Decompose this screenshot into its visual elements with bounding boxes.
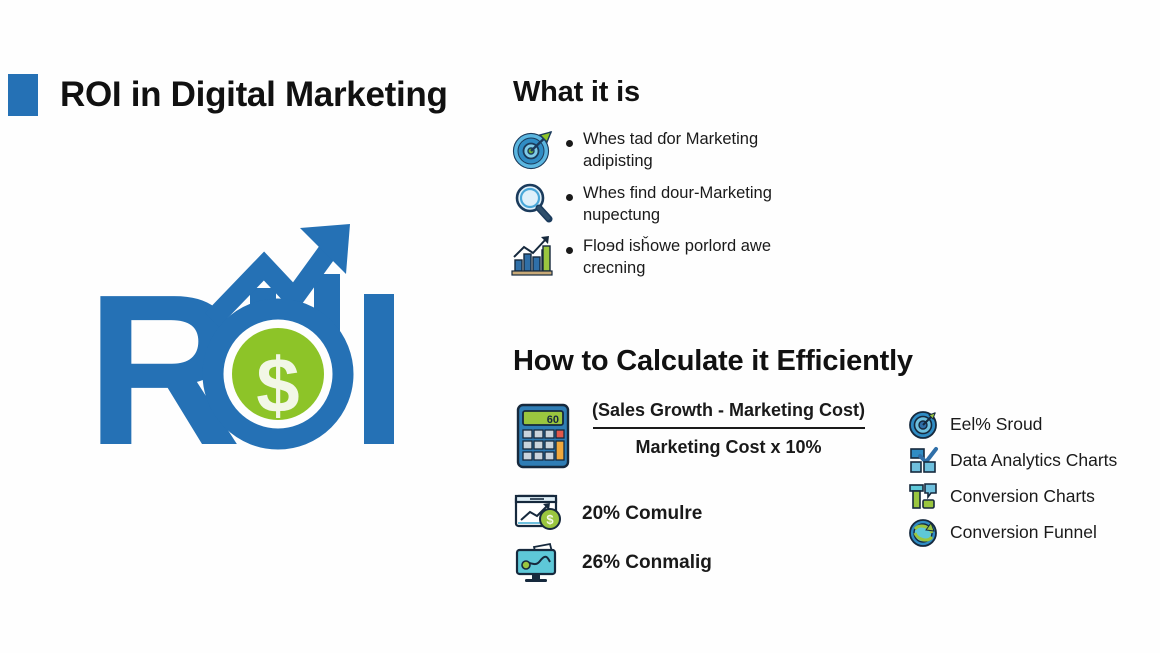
- list-item: $ 20% Comulre: [512, 492, 712, 536]
- magnifier-icon: [510, 180, 556, 226]
- list-item-label: Conversion Charts: [950, 486, 1095, 507]
- title-text: ROI in Digital Marketing: [60, 75, 448, 115]
- monitor-money-icon: [512, 541, 568, 585]
- list-item: 26% Conmalig: [512, 541, 712, 585]
- list-item-label: 26% Conmalig: [582, 552, 712, 574]
- target-arrow-icon: [908, 409, 939, 440]
- list-item: Floɘd isȟowe porlord awe crecning: [510, 235, 870, 280]
- list-item-label: Data Analytics Charts: [950, 450, 1117, 471]
- svg-text:$: $: [256, 341, 299, 429]
- formula-denominator: Marketing Cost x 10%: [635, 429, 821, 458]
- list-item: Conversion Charts: [908, 482, 1117, 510]
- bar-chart-growth-icon: [510, 233, 556, 279]
- list-item: Whes find dour-Marketing nupectung: [510, 182, 870, 227]
- list-item: Whes tad ɗor Marketing adipisting: [510, 128, 870, 173]
- roi-formula: (Sales Growth - Marketing Cost) Marketin…: [588, 398, 869, 458]
- browser-chart-coin-icon: $: [512, 492, 568, 536]
- title-accent-block: [8, 74, 38, 116]
- target-icon: [510, 126, 556, 172]
- section-heading-how-to-calculate: How to Calculate it Efficiently: [513, 345, 913, 378]
- list-item-label: Conversion Funnel: [950, 522, 1097, 543]
- list-item-label: Eel% Sroud: [950, 414, 1042, 435]
- list-item: Conversion Funnel: [908, 518, 1117, 546]
- list-item-label: 20% Comulre: [582, 503, 702, 525]
- page-title: ROI in Digital Marketing: [8, 74, 448, 116]
- conversion-funnel-icon: [908, 517, 939, 548]
- formula-block: 60 (Sales Growth - Marketing Cost) Marke…: [512, 398, 869, 470]
- calculator-icon: 60: [512, 402, 574, 470]
- data-analytics-charts-icon: [908, 445, 939, 476]
- list-item-label: Floɘd isȟowe porlord awe crecning: [583, 235, 798, 280]
- list-item: Data Analytics Charts: [908, 446, 1117, 474]
- list-item-label: Whes tad ɗor Marketing adipisting: [583, 128, 798, 173]
- list-item-label: Whes find dour-Marketing nupectung: [583, 182, 798, 227]
- metric-list: $ 20% Comulre 26% Conmalig: [512, 492, 712, 590]
- chart-types-list: Eel% Sroud Data Analytics Charts: [908, 410, 1117, 554]
- section-heading-what-it-is: What it is: [513, 76, 640, 109]
- bullet-dot: [566, 247, 573, 254]
- formula-numerator: (Sales Growth - Marketing Cost): [588, 400, 869, 427]
- conversion-charts-icon: [908, 481, 939, 512]
- what-it-is-bullet-list: Whes tad ɗor Marketing adipisting Whes f…: [510, 128, 870, 289]
- svg-text:$: $: [546, 512, 554, 527]
- bullet-dot: [566, 194, 573, 201]
- bullet-dot: [566, 140, 573, 147]
- roi-logo: R $: [78, 222, 418, 462]
- slide-canvas: ROI in Digital Marketing R $ What: [0, 0, 1160, 653]
- list-item: Eel% Sroud: [908, 410, 1117, 438]
- roi-logo-graphic: R $: [78, 222, 418, 462]
- svg-text:60: 60: [547, 414, 559, 426]
